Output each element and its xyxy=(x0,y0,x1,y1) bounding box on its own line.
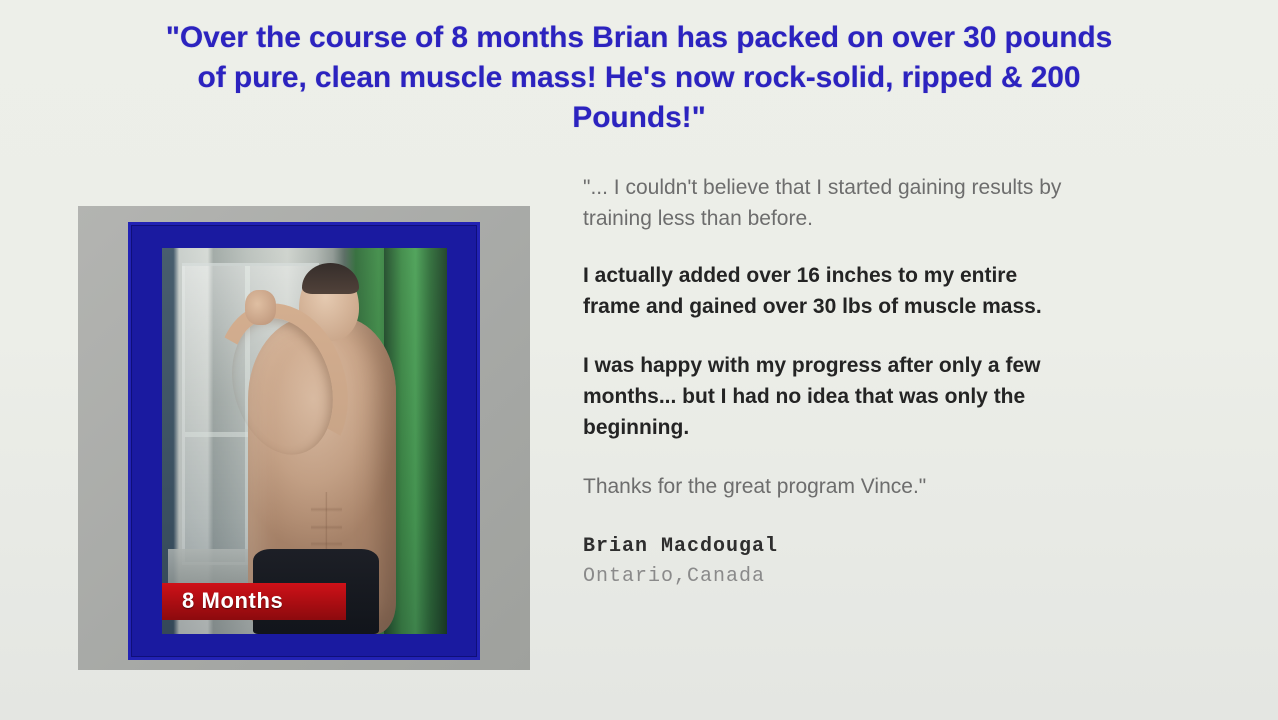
headline-line-2: of pure, clean muscle mass! He's now roc… xyxy=(24,58,1254,98)
testimonial-paragraph-4: Thanks for the great program Vince." xyxy=(583,471,1243,502)
testimonial-block: "... I couldn't believe that I started g… xyxy=(583,172,1243,592)
paragraph-2-line-2: frame and gained over 30 lbs of muscle m… xyxy=(583,291,1243,322)
paragraph-3-line-1: I was happy with my progress after only … xyxy=(583,350,1243,381)
testimonial-signature: Brian Macdougal Ontario,Canada xyxy=(583,532,1243,592)
paragraph-3-line-3: beginning. xyxy=(583,412,1243,443)
testimonial-paragraph-1: "... I couldn't believe that I started g… xyxy=(583,172,1243,234)
paragraph-3-line-2: months... but I had no idea that was onl… xyxy=(583,381,1243,412)
transformation-photo xyxy=(162,248,447,634)
page-headline: "Over the course of 8 months Brian has p… xyxy=(24,18,1254,138)
paragraph-4-line-1: Thanks for the great program Vince." xyxy=(583,471,1243,502)
paragraph-1-line-2: training less than before. xyxy=(583,203,1243,234)
signature-name: Brian Macdougal xyxy=(583,532,1243,562)
testimonial-paragraph-3: I was happy with my progress after only … xyxy=(583,350,1243,443)
photo-subject-fist xyxy=(245,290,276,325)
months-badge: 8 Months xyxy=(162,583,346,620)
headline-line-1: "Over the course of 8 months Brian has p… xyxy=(24,18,1254,58)
signature-location: Ontario,Canada xyxy=(583,562,1243,592)
headline-line-3: Pounds!" xyxy=(24,98,1254,138)
paragraph-1-line-1: "... I couldn't believe that I started g… xyxy=(583,172,1243,203)
page-canvas: "Over the course of 8 months Brian has p… xyxy=(0,0,1278,720)
paragraph-2-line-1: I actually added over 16 inches to my en… xyxy=(583,260,1243,291)
testimonial-paragraph-2: I actually added over 16 inches to my en… xyxy=(583,260,1243,322)
